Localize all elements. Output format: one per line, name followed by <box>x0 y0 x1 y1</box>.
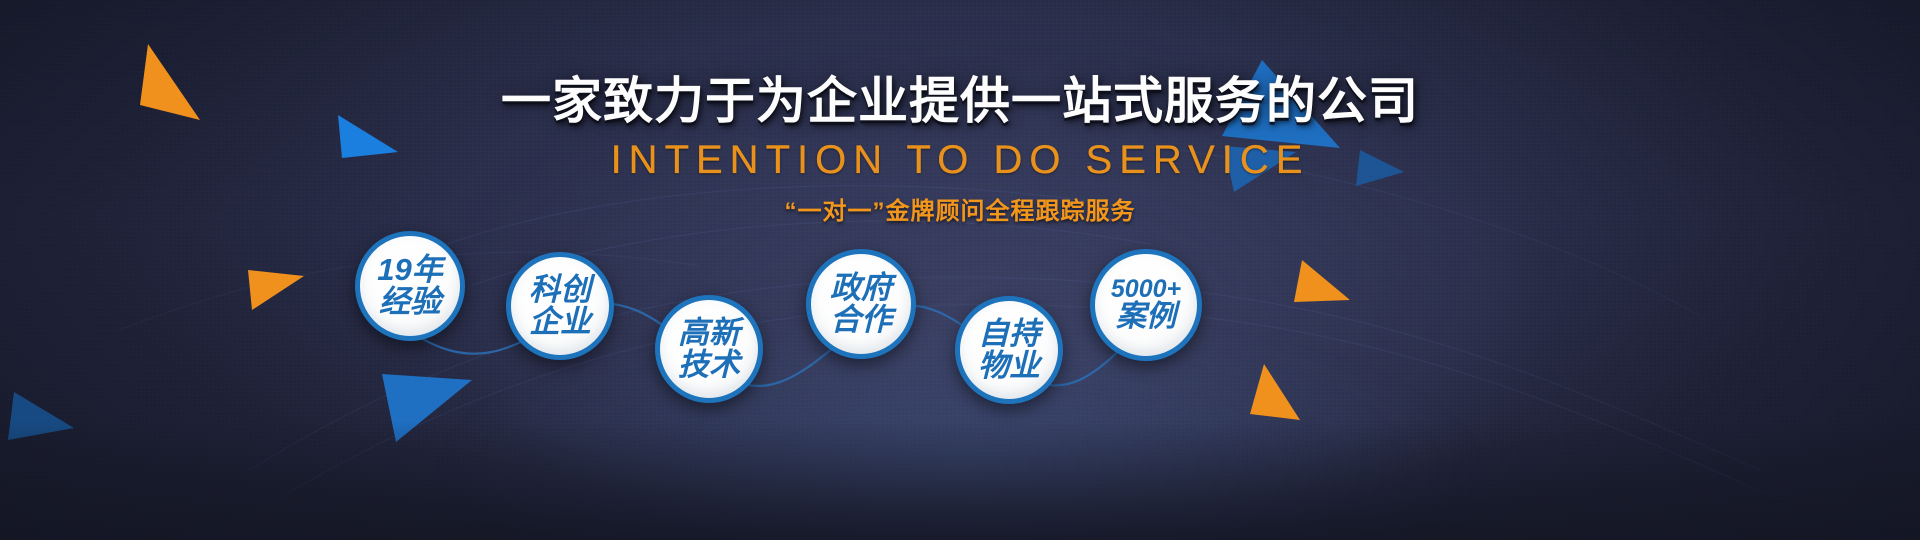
badge-line-2: 经验 <box>379 286 441 318</box>
badge-self-owned-property[interactable]: 自持物业 <box>955 296 1063 404</box>
badge-line-2: 合作 <box>830 304 892 336</box>
badge-line-1: 自持 <box>978 318 1040 350</box>
badge-line-1: 科创 <box>529 274 591 306</box>
badge-line-1: 5000+ <box>1111 277 1181 303</box>
badge-line-1: 政府 <box>830 272 892 304</box>
badge-line-1: 高新 <box>678 317 740 349</box>
badge-years-experience[interactable]: 19年经验 <box>355 231 465 341</box>
badge-line-2: 案例 <box>1116 302 1176 333</box>
bottom-fade <box>0 420 1920 540</box>
badge-gov-cooperation[interactable]: 政府合作 <box>806 249 916 359</box>
badge-line-2: 物业 <box>978 350 1040 382</box>
badge-line-2: 企业 <box>529 306 591 338</box>
badge-cases-count[interactable]: 5000+案例 <box>1090 249 1202 361</box>
badge-line-2: 技术 <box>678 349 740 381</box>
badge-line-1: 19年 <box>377 254 442 286</box>
badge-high-tech[interactable]: 高新技术 <box>655 295 763 403</box>
promo-banner: 一家致力于为企业提供一站式服务的公司 INTENTION TO DO SERVI… <box>0 0 1920 540</box>
badge-tech-startup[interactable]: 科创企业 <box>506 252 614 360</box>
